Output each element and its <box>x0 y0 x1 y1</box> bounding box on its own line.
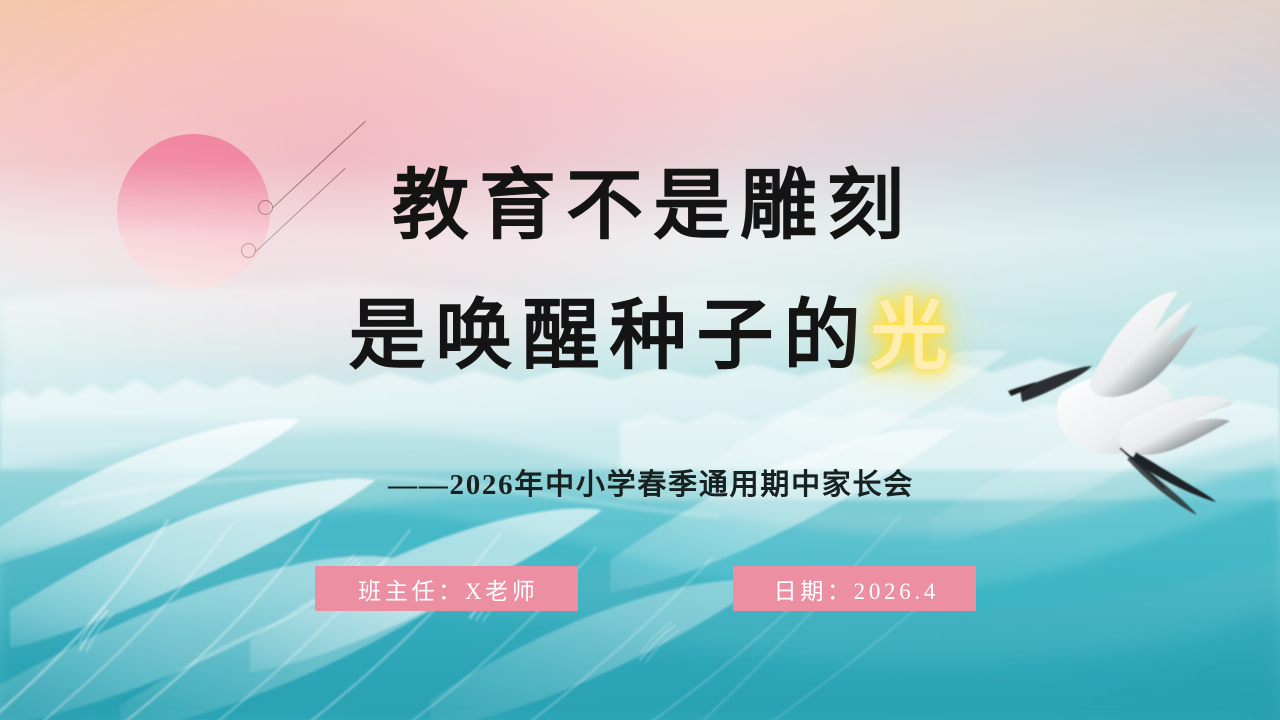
subtitle: ——2026年中小学春季通用期中家长会 <box>0 461 1280 503</box>
subtitle-text: ——2026年中小学春季通用期中家长会 <box>388 469 914 501</box>
title-line-2-prefix: 是唤醒种子的 <box>348 293 870 379</box>
badge-homeroom-teacher-label: 班主任：X老师 <box>354 572 538 606</box>
presentation-cover-slide: 教育不是雕刻 是唤醒种子的光 ——2026年中小学春季通用期中家长会 班主任：X… <box>0 0 1280 720</box>
title-line-1: 教育不是雕刻 <box>16 168 1280 245</box>
badge-date-label: 日期：2026.4 <box>770 572 939 606</box>
title-block: 教育不是雕刻 是唤醒种子的光 <box>0 168 1280 375</box>
title-glow-character: 光 <box>871 293 958 379</box>
badge-date[interactable]: 日期：2026.4 <box>733 566 976 611</box>
badge-homeroom-teacher[interactable]: 班主任：X老师 <box>315 566 578 611</box>
title-line-2: 是唤醒种子的光 <box>16 298 1280 375</box>
